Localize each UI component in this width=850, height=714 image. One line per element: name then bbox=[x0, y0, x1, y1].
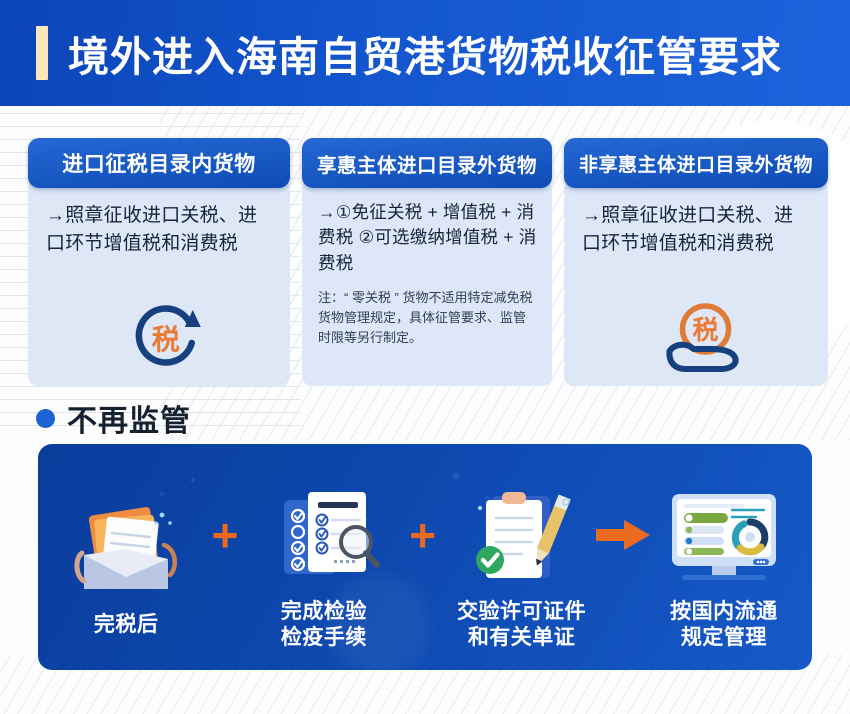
section-title-no-supervision: 不再监管 bbox=[36, 396, 191, 440]
category-cards: 进口征税目录内货物 →照章征收进口关税、进口环节增值税和消费税 税 享惠主体进口… bbox=[28, 138, 828, 386]
checklist-magnifier-icon bbox=[260, 477, 388, 593]
card-text-2: →①免征关税 + 增值税 + 消费税 ②可选缴纳增值税 + 消费税 bbox=[318, 200, 538, 276]
clipboard-pencil-check-icon bbox=[458, 477, 586, 593]
flow-step-4-label-line2: 规定管理 bbox=[670, 625, 778, 651]
card-header-1: 进口征税目录内货物 bbox=[28, 138, 290, 188]
svg-text:税: 税 bbox=[693, 315, 719, 345]
flow-step-4: 按国内流通 规定管理 bbox=[650, 463, 798, 650]
card-header-2: 享惠主体进口目录外货物 bbox=[302, 138, 552, 188]
section-title-label: 不再监管 bbox=[67, 396, 191, 440]
flow-step-4-label: 按国内流通 规定管理 bbox=[670, 599, 778, 650]
plus-icon-2: + bbox=[409, 512, 436, 558]
flow-step-2-label-line2: 检疫手续 bbox=[281, 625, 367, 651]
monitor-dashboard-icon bbox=[660, 477, 788, 593]
connector-plus-1: + bbox=[200, 512, 249, 558]
banner-accent-bar bbox=[36, 26, 48, 80]
header-banner: 境外进入海南自贸港货物税收征管要求 bbox=[0, 0, 850, 106]
flow-step-3-label-line2: 和有关单证 bbox=[457, 625, 586, 651]
connector-arrow bbox=[596, 518, 650, 552]
arrow-right-icon bbox=[596, 518, 650, 552]
card-beneficiary-outside-catalog: 享惠主体进口目录外货物 →①免征关税 + 增值税 + 消费税 ②可选缴纳增值税 … bbox=[302, 138, 552, 386]
documents-envelope-icon bbox=[62, 490, 190, 606]
svg-text:税: 税 bbox=[152, 323, 180, 355]
flow-step-3-label: 交验许可证件 和有关单证 bbox=[457, 599, 586, 650]
card-body-1: →照章征收进口关税、进口环节增值税和消费税 税 bbox=[28, 180, 290, 386]
connector-plus-2: + bbox=[398, 512, 447, 558]
tax-cycle-icon: 税 bbox=[128, 301, 206, 380]
card-body-2: →①免征关税 + 增值税 + 消费税 ②可选缴纳增值税 + 消费税 注：“ 零关… bbox=[302, 180, 552, 386]
infographic-page: 境外进入海南自贸港货物税收征管要求 进口征税目录内货物 →照章征收进口关税、进口… bbox=[0, 0, 850, 714]
card-non-beneficiary-outside-catalog: 非享惠主体进口目录外货物 →照章征收进口关税、进口环节增值税和消费税 税 bbox=[564, 138, 828, 386]
plus-icon-1: + bbox=[212, 512, 239, 558]
flow-step-2-label: 完成检验 检疫手续 bbox=[281, 599, 367, 650]
card-text-1: →照章征收进口关税、进口环节增值税和消费税 bbox=[46, 202, 272, 258]
flow-step-3-label-line1: 交验许可证件 bbox=[457, 599, 586, 625]
flow-step-2: 完成检验 检疫手续 bbox=[250, 463, 398, 650]
bullet-dot-icon bbox=[36, 409, 55, 428]
flow-step-2-label-line1: 完成检验 bbox=[281, 599, 367, 625]
card-header-3: 非享惠主体进口目录外货物 bbox=[564, 138, 828, 188]
flow-panel: 完税后 + bbox=[38, 444, 812, 670]
card-text-3: →照章征收进口关税、进口环节增值税和消费税 bbox=[582, 202, 810, 258]
flow-step-1-label: 完税后 bbox=[94, 612, 159, 638]
card-note-2: 注：“ 零关税 ” 货物不适用特定减免税货物管理规定，具体征管要求、监管时限等另… bbox=[318, 288, 538, 347]
flow-step-3: 交验许可证件 和有关单证 bbox=[447, 463, 595, 650]
tax-hand-icon: 税 bbox=[656, 301, 748, 382]
card-import-taxable-catalog: 进口征税目录内货物 →照章征收进口关税、进口环节增值税和消费税 税 bbox=[28, 138, 290, 386]
flow-step-1: 完税后 bbox=[52, 476, 200, 638]
card-body-3: →照章征收进口关税、进口环节增值税和消费税 税 bbox=[564, 180, 828, 386]
flow-steps: 完税后 + bbox=[38, 444, 812, 670]
flow-step-4-label-line1: 按国内流通 bbox=[670, 599, 778, 625]
page-title: 境外进入海南自贸港货物税收征管要求 bbox=[68, 23, 782, 83]
